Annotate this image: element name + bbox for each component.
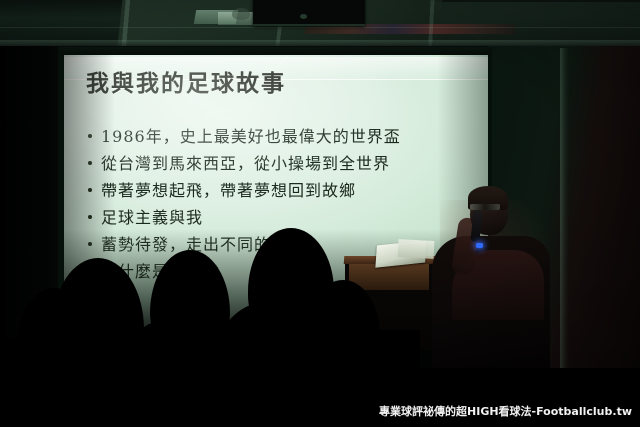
microphone-led-indicator	[476, 243, 483, 248]
bullet-text: 足球主義與我	[101, 204, 203, 231]
bullet-text: 從台灣到馬來西亞，從小操場到全世界	[101, 150, 390, 177]
ceiling-projector	[253, 0, 365, 26]
glasses-icon	[470, 204, 500, 210]
wall-pillar-light	[560, 48, 569, 378]
list-item: 從台灣到馬來西亞，從小操場到全世界	[88, 150, 478, 177]
bullet-text: 1986年，史上最美好也最偉大的世界盃	[101, 123, 401, 150]
bullet-dot-icon	[88, 242, 92, 246]
papers-on-lectern-second	[398, 239, 435, 259]
list-item: 1986年，史上最美好也最偉大的世界盃	[88, 123, 478, 150]
bullet-dot-icon	[88, 215, 92, 219]
list-item: 帶著夢想起飛，帶著夢想回到故鄉	[88, 177, 478, 204]
bullet-text: 帶著夢想起飛，帶著夢想回到故鄉	[101, 177, 356, 204]
bullet-dot-icon	[88, 188, 92, 192]
photo-scene: 我與我的足球故事 1986年，史上最美好也最偉大的世界盃 從台灣到馬來西亞，從小…	[0, 0, 640, 427]
watermark: 專業球評祕傳的超HIGH看球法-Footballclub.tw	[379, 403, 632, 419]
projection-screen-roller	[58, 47, 490, 55]
list-item: 足球主義與我	[88, 204, 478, 231]
slide-title: 我與我的足球故事	[86, 69, 286, 99]
bullet-dot-icon	[88, 161, 92, 165]
bullet-dot-icon	[88, 134, 92, 138]
projector-lens-icon	[300, 14, 307, 19]
